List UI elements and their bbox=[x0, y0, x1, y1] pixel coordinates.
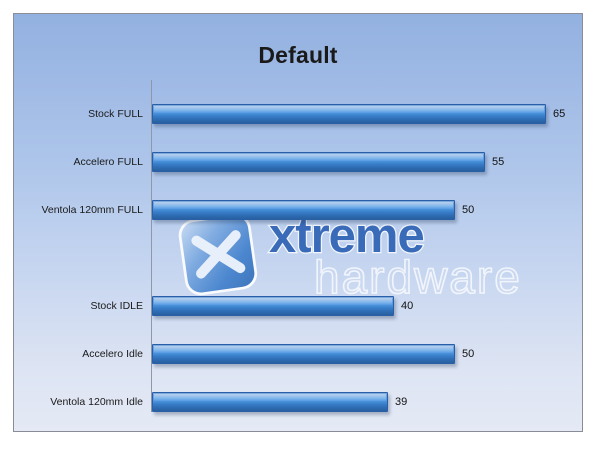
plot-area: Stock FULL65Accelero FULL55Ventola 120mm… bbox=[151, 80, 583, 412]
bar-row: Accelero FULL55 bbox=[151, 138, 583, 186]
bar-row: Stock IDLE40 bbox=[151, 282, 583, 330]
category-label: Stock FULL bbox=[88, 108, 143, 120]
category-label: Ventola 120mm Idle bbox=[50, 396, 143, 408]
bar-value-label: 65 bbox=[553, 108, 565, 120]
bar-row: Ventola 120mm FULL50 bbox=[151, 186, 583, 234]
category-label: Accelero FULL bbox=[74, 156, 143, 168]
bar-row: Accelero Idle50 bbox=[151, 330, 583, 378]
category-label: Stock IDLE bbox=[90, 300, 143, 312]
screenshot-root: Default bbox=[0, 0, 600, 450]
bar-container[interactable]: 40 bbox=[152, 296, 394, 316]
category-label: Ventola 120mm FULL bbox=[41, 204, 143, 216]
chart-frame: Default bbox=[13, 13, 583, 432]
chart-title: Default bbox=[14, 42, 582, 69]
category-label: Accelero Idle bbox=[82, 348, 143, 360]
bar[interactable] bbox=[152, 344, 455, 364]
bar[interactable] bbox=[152, 152, 485, 172]
bar[interactable] bbox=[152, 200, 455, 220]
bar-value-label: 39 bbox=[395, 396, 407, 408]
bar[interactable] bbox=[152, 296, 394, 316]
bar[interactable] bbox=[152, 104, 546, 124]
bar-container[interactable]: 50 bbox=[152, 344, 455, 364]
bar-container[interactable]: 55 bbox=[152, 152, 485, 172]
bar[interactable] bbox=[152, 392, 388, 412]
bar-row bbox=[151, 234, 583, 282]
bar-row: Stock FULL65 bbox=[151, 90, 583, 138]
bar-container[interactable]: 65 bbox=[152, 104, 546, 124]
bar-value-label: 50 bbox=[462, 204, 474, 216]
bar-value-label: 55 bbox=[492, 156, 504, 168]
bar-row: Ventola 120mm Idle39 bbox=[151, 378, 583, 426]
bar-container[interactable]: 39 bbox=[152, 392, 388, 412]
bar-value-label: 50 bbox=[462, 348, 474, 360]
bar-container[interactable]: 50 bbox=[152, 200, 455, 220]
bar-value-label: 40 bbox=[401, 300, 413, 312]
